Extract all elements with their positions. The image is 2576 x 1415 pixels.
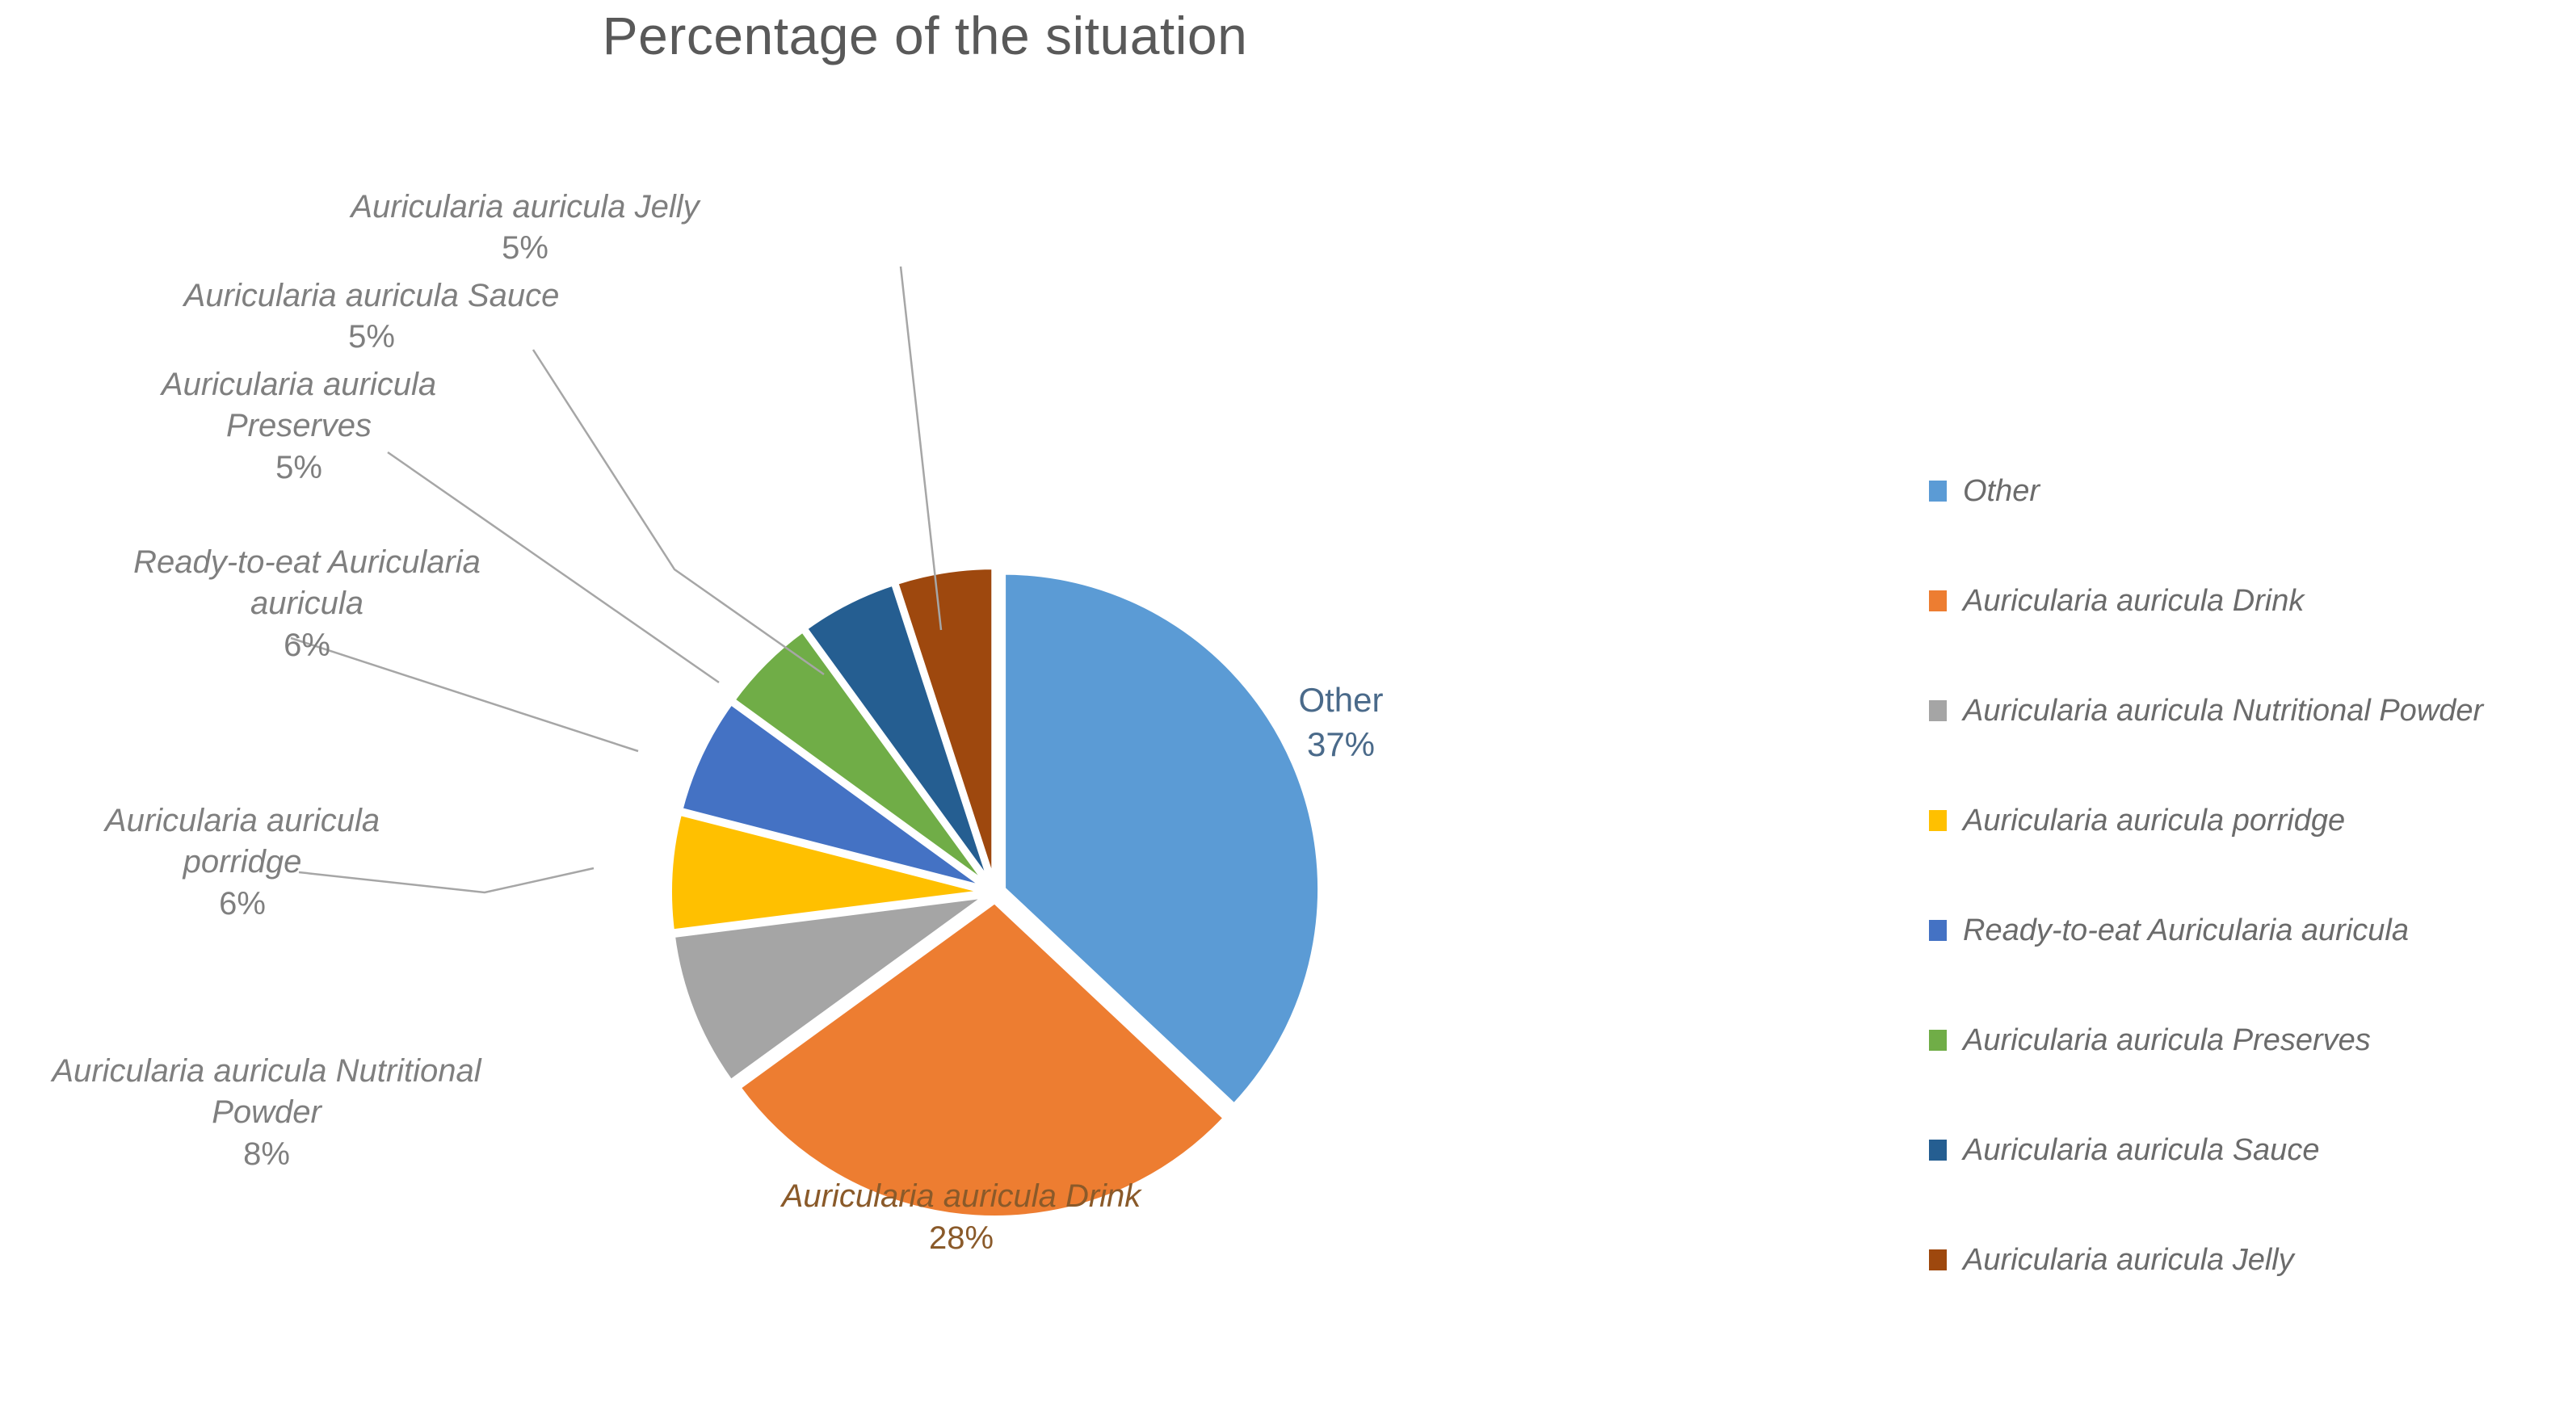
slice-label-other-pct: 37%: [1220, 723, 1462, 767]
callout-pct-nutritional-powder: 8%: [0, 1134, 533, 1175]
callout-name-porridge: Auricularia auricula porridge: [105, 803, 380, 880]
callout-name-ready-to-eat: Ready-to-eat Auricularia auricula: [133, 544, 481, 621]
slice-label-other: Other 37%: [1220, 678, 1462, 766]
chart-legend: OtherAuricularia auricula DrinkAuricular…: [1929, 436, 2559, 1315]
legend-item[interactable]: Auricularia auricula porridge: [1929, 766, 2559, 875]
legend-item[interactable]: Ready-to-eat Auricularia auricula: [1929, 875, 2559, 985]
legend-swatch-icon: [1929, 810, 1947, 831]
callout-pct-porridge: 6%: [16, 884, 469, 925]
legend-item[interactable]: Auricularia auricula Drink: [1929, 546, 2559, 656]
callout-label-ready-to-eat: Ready-to-eat Auricularia auricula 6%: [40, 501, 574, 707]
legend-swatch-icon: [1929, 1249, 1947, 1270]
legend-item[interactable]: Auricularia auricula Preserves: [1929, 985, 2559, 1095]
slice-label-drink-pct: 28%: [533, 1217, 1389, 1259]
slice-label-drink-name: Auricularia auricula Drink: [533, 1175, 1389, 1217]
legend-item[interactable]: Auricularia auricula Nutritional Powder: [1929, 656, 2559, 766]
callout-label-nutritional-powder: Auricularia auricula Nutritional Powder …: [0, 1010, 533, 1216]
legend-item[interactable]: Auricularia auricula Jelly: [1929, 1205, 2559, 1315]
callout-name-sauce: Auricularia auricula Sauce: [184, 278, 560, 313]
legend-item-label: Ready-to-eat Auricularia auricula: [1963, 915, 2409, 946]
callout-name-preserves: Auricularia auricula Preserves: [162, 367, 436, 443]
legend-item[interactable]: Auricularia auricula Sauce: [1929, 1095, 2559, 1205]
callout-name-jelly: Auricularia auricula Jelly: [351, 189, 699, 225]
legend-item-label: Auricularia auricula Nutritional Powder: [1963, 695, 2483, 726]
callout-name-nutritional-powder: Auricularia auricula Nutritional Powder: [52, 1053, 481, 1130]
legend-swatch-icon: [1929, 700, 1947, 721]
legend-swatch-icon: [1929, 481, 1947, 502]
legend-item[interactable]: Other: [1929, 436, 2559, 546]
legend-item-label: Auricularia auricula Preserves: [1963, 1025, 2371, 1056]
pie-chart-figure: Percentage of the situation Auricularia …: [0, 0, 2576, 1415]
callout-pct-ready-to-eat: 6%: [40, 625, 574, 666]
legend-item-label: Auricularia auricula porridge: [1963, 805, 2345, 836]
legend-item-label: Auricularia auricula Jelly: [1963, 1245, 2294, 1275]
legend-swatch-icon: [1929, 920, 1947, 941]
legend-swatch-icon: [1929, 1140, 1947, 1161]
legend-item-label: Other: [1963, 476, 2040, 506]
legend-item-label: Auricularia auricula Sauce: [1963, 1135, 2319, 1165]
legend-swatch-icon: [1929, 1030, 1947, 1051]
callout-pct-preserves: 5%: [81, 447, 517, 489]
slice-label-other-name: Other: [1220, 678, 1462, 723]
legend-item-label: Auricularia auricula Drink: [1963, 586, 2304, 616]
pie-slices-group: [670, 567, 1320, 1218]
slice-label-drink: Auricularia auricula Drink 28%: [533, 1175, 1389, 1259]
legend-swatch-icon: [1929, 590, 1947, 611]
callout-label-porridge: Auricularia auricula porridge 6%: [16, 759, 469, 966]
callout-label-preserves: Auricularia auricula Preserves 5%: [81, 323, 517, 530]
